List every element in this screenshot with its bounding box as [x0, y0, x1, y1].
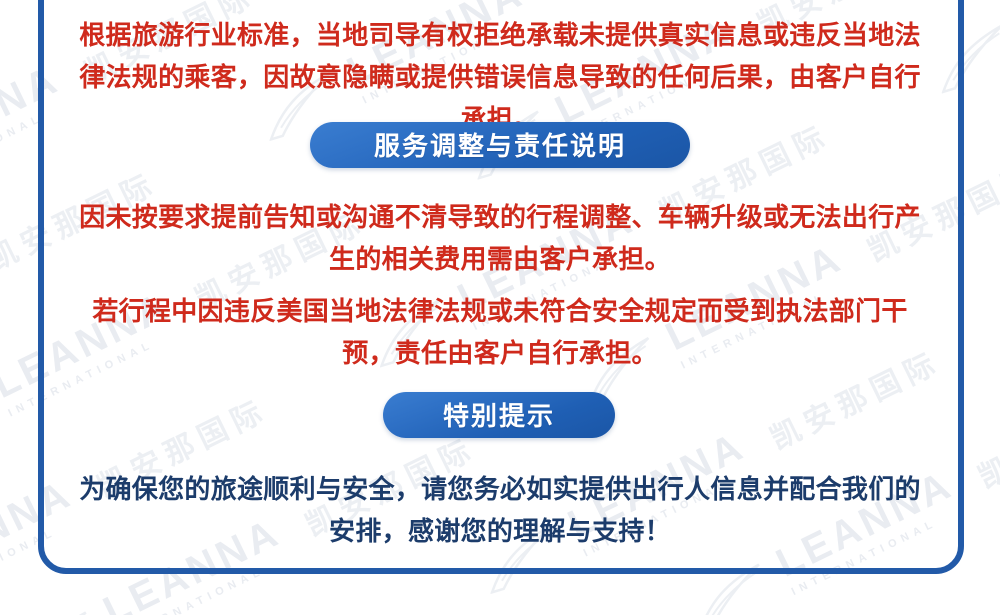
content-area: 根据旅游行业标准，当地司导有权拒绝承载未提供真实信息或违反当地法律法规的乘客，因… — [0, 0, 1000, 615]
section-badge-service-adjustment: 服务调整与责任说明 — [310, 122, 690, 168]
section-badge-special-notice: 特别提示 — [383, 392, 615, 438]
paragraph-law-enforcement: 若行程中因违反美国当地法律法规或未符合安全规定而受到执法部门干预，责任由客户自行… — [70, 290, 930, 374]
paragraph-notification-fees: 因未按要求提前告知或沟通不清导致的行程调整、车辆升级或无法出行产生的相关费用需由… — [70, 196, 930, 280]
paragraph-closing-request: 为确保您的旅途顺利与安全，请您务必如实提供出行人信息并配合我们的安排，感谢您的理… — [70, 468, 930, 552]
terms-notice-page: LEANNA INTERNATIONAL 凯安那国际 LEANNA INTERN… — [0, 0, 1000, 615]
